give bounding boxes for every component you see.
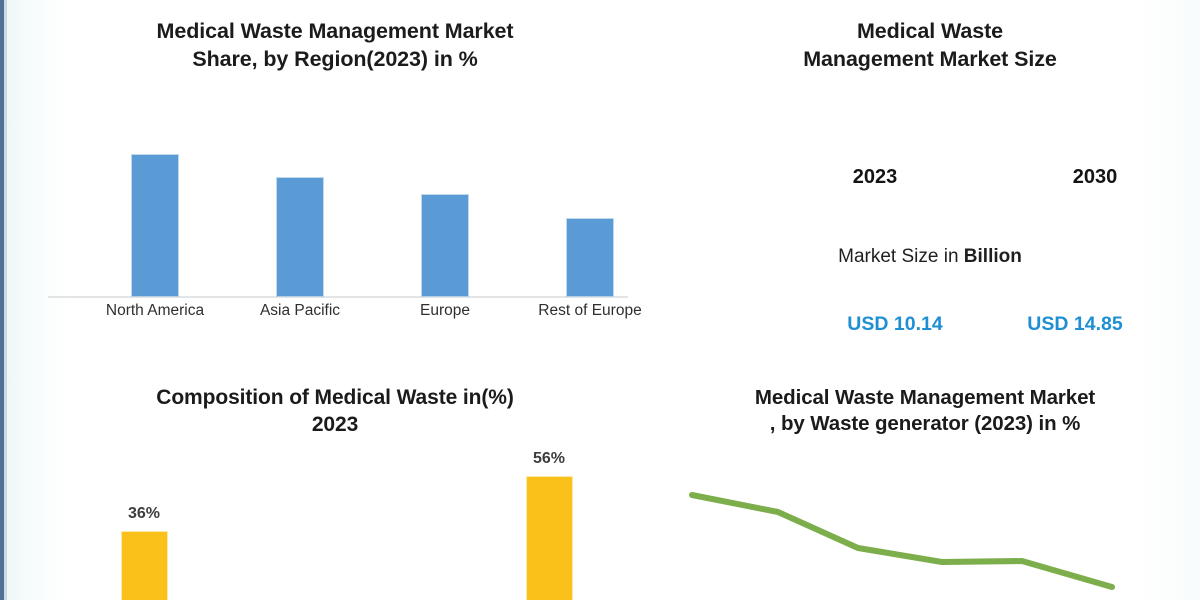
year-label-end: 2030 (1073, 166, 1118, 189)
waste-generator-title-line1: Medical Waste Management Market (665, 385, 1185, 411)
composition-value-label-2: 56% (533, 450, 565, 468)
waste-composition-plot: 36% 56% (30, 460, 640, 600)
region-share-plot (30, 118, 640, 298)
waste-generator-line-series (692, 495, 1112, 587)
bar-europe (422, 195, 468, 296)
market-size-caption-prefix: Market Size in (838, 246, 964, 267)
category-label-north-america: North America (106, 302, 204, 320)
waste-composition-title-line2: 2023 (30, 412, 640, 439)
waste-composition-title: Composition of Medical Waste in(%) 2023 (30, 385, 640, 439)
region-share-category-labels: North America Asia Pacific Europe Rest o… (30, 302, 640, 328)
market-size-title: Medical Waste Management Market Size (680, 18, 1180, 73)
composition-bar-2 (527, 477, 572, 600)
bar-north-america (132, 155, 178, 296)
waste-generator-panel: Medical Waste Management Market , by Was… (665, 385, 1185, 600)
infographic-canvas: Medical Waste Management Market Share, b… (0, 0, 1200, 600)
category-label-europe: Europe (420, 302, 470, 320)
market-size-caption: Market Size in Billion (680, 246, 1180, 268)
waste-generator-line-svg (665, 465, 1185, 600)
market-size-value-end: USD 14.85 (1027, 313, 1122, 336)
market-size-caption-unit: Billion (964, 246, 1022, 267)
category-label-asia-pacific: Asia Pacific (260, 302, 340, 320)
market-size-value-start: USD 10.14 (847, 313, 942, 336)
market-size-years-row: 2023 2030 (680, 166, 1180, 196)
composition-value-label-1: 36% (128, 505, 160, 523)
region-share-axis (48, 296, 628, 298)
market-size-panel: Medical Waste Management Market Size 202… (680, 18, 1180, 348)
bar-asia-pacific (277, 178, 323, 296)
waste-generator-title-line2: , by Waste generator (2023) in % (665, 411, 1185, 437)
category-label-rest-of-europe: Rest of Europe (538, 302, 641, 320)
region-share-panel: Medical Waste Management Market Share, b… (30, 18, 640, 318)
region-share-title-line1: Medical Waste Management Market (30, 18, 640, 46)
waste-generator-title: Medical Waste Management Market , by Was… (665, 385, 1185, 437)
market-size-values-row: USD 10.14 USD 14.85 (680, 313, 1180, 343)
bar-rest-of-europe (567, 219, 613, 296)
market-size-title-line1: Medical Waste (680, 18, 1180, 46)
left-accent-strip-soft (4, 0, 7, 600)
region-share-title-line2: Share, by Region(2023) in % (30, 46, 640, 74)
year-label-start: 2023 (853, 166, 898, 189)
waste-composition-panel: Composition of Medical Waste in(%) 2023 … (30, 385, 640, 600)
region-share-title: Medical Waste Management Market Share, b… (30, 18, 640, 73)
market-size-title-line2: Management Market Size (680, 46, 1180, 74)
composition-bar-1 (122, 532, 167, 600)
waste-generator-plot (665, 465, 1185, 600)
waste-composition-title-line1: Composition of Medical Waste in(%) (30, 385, 640, 412)
